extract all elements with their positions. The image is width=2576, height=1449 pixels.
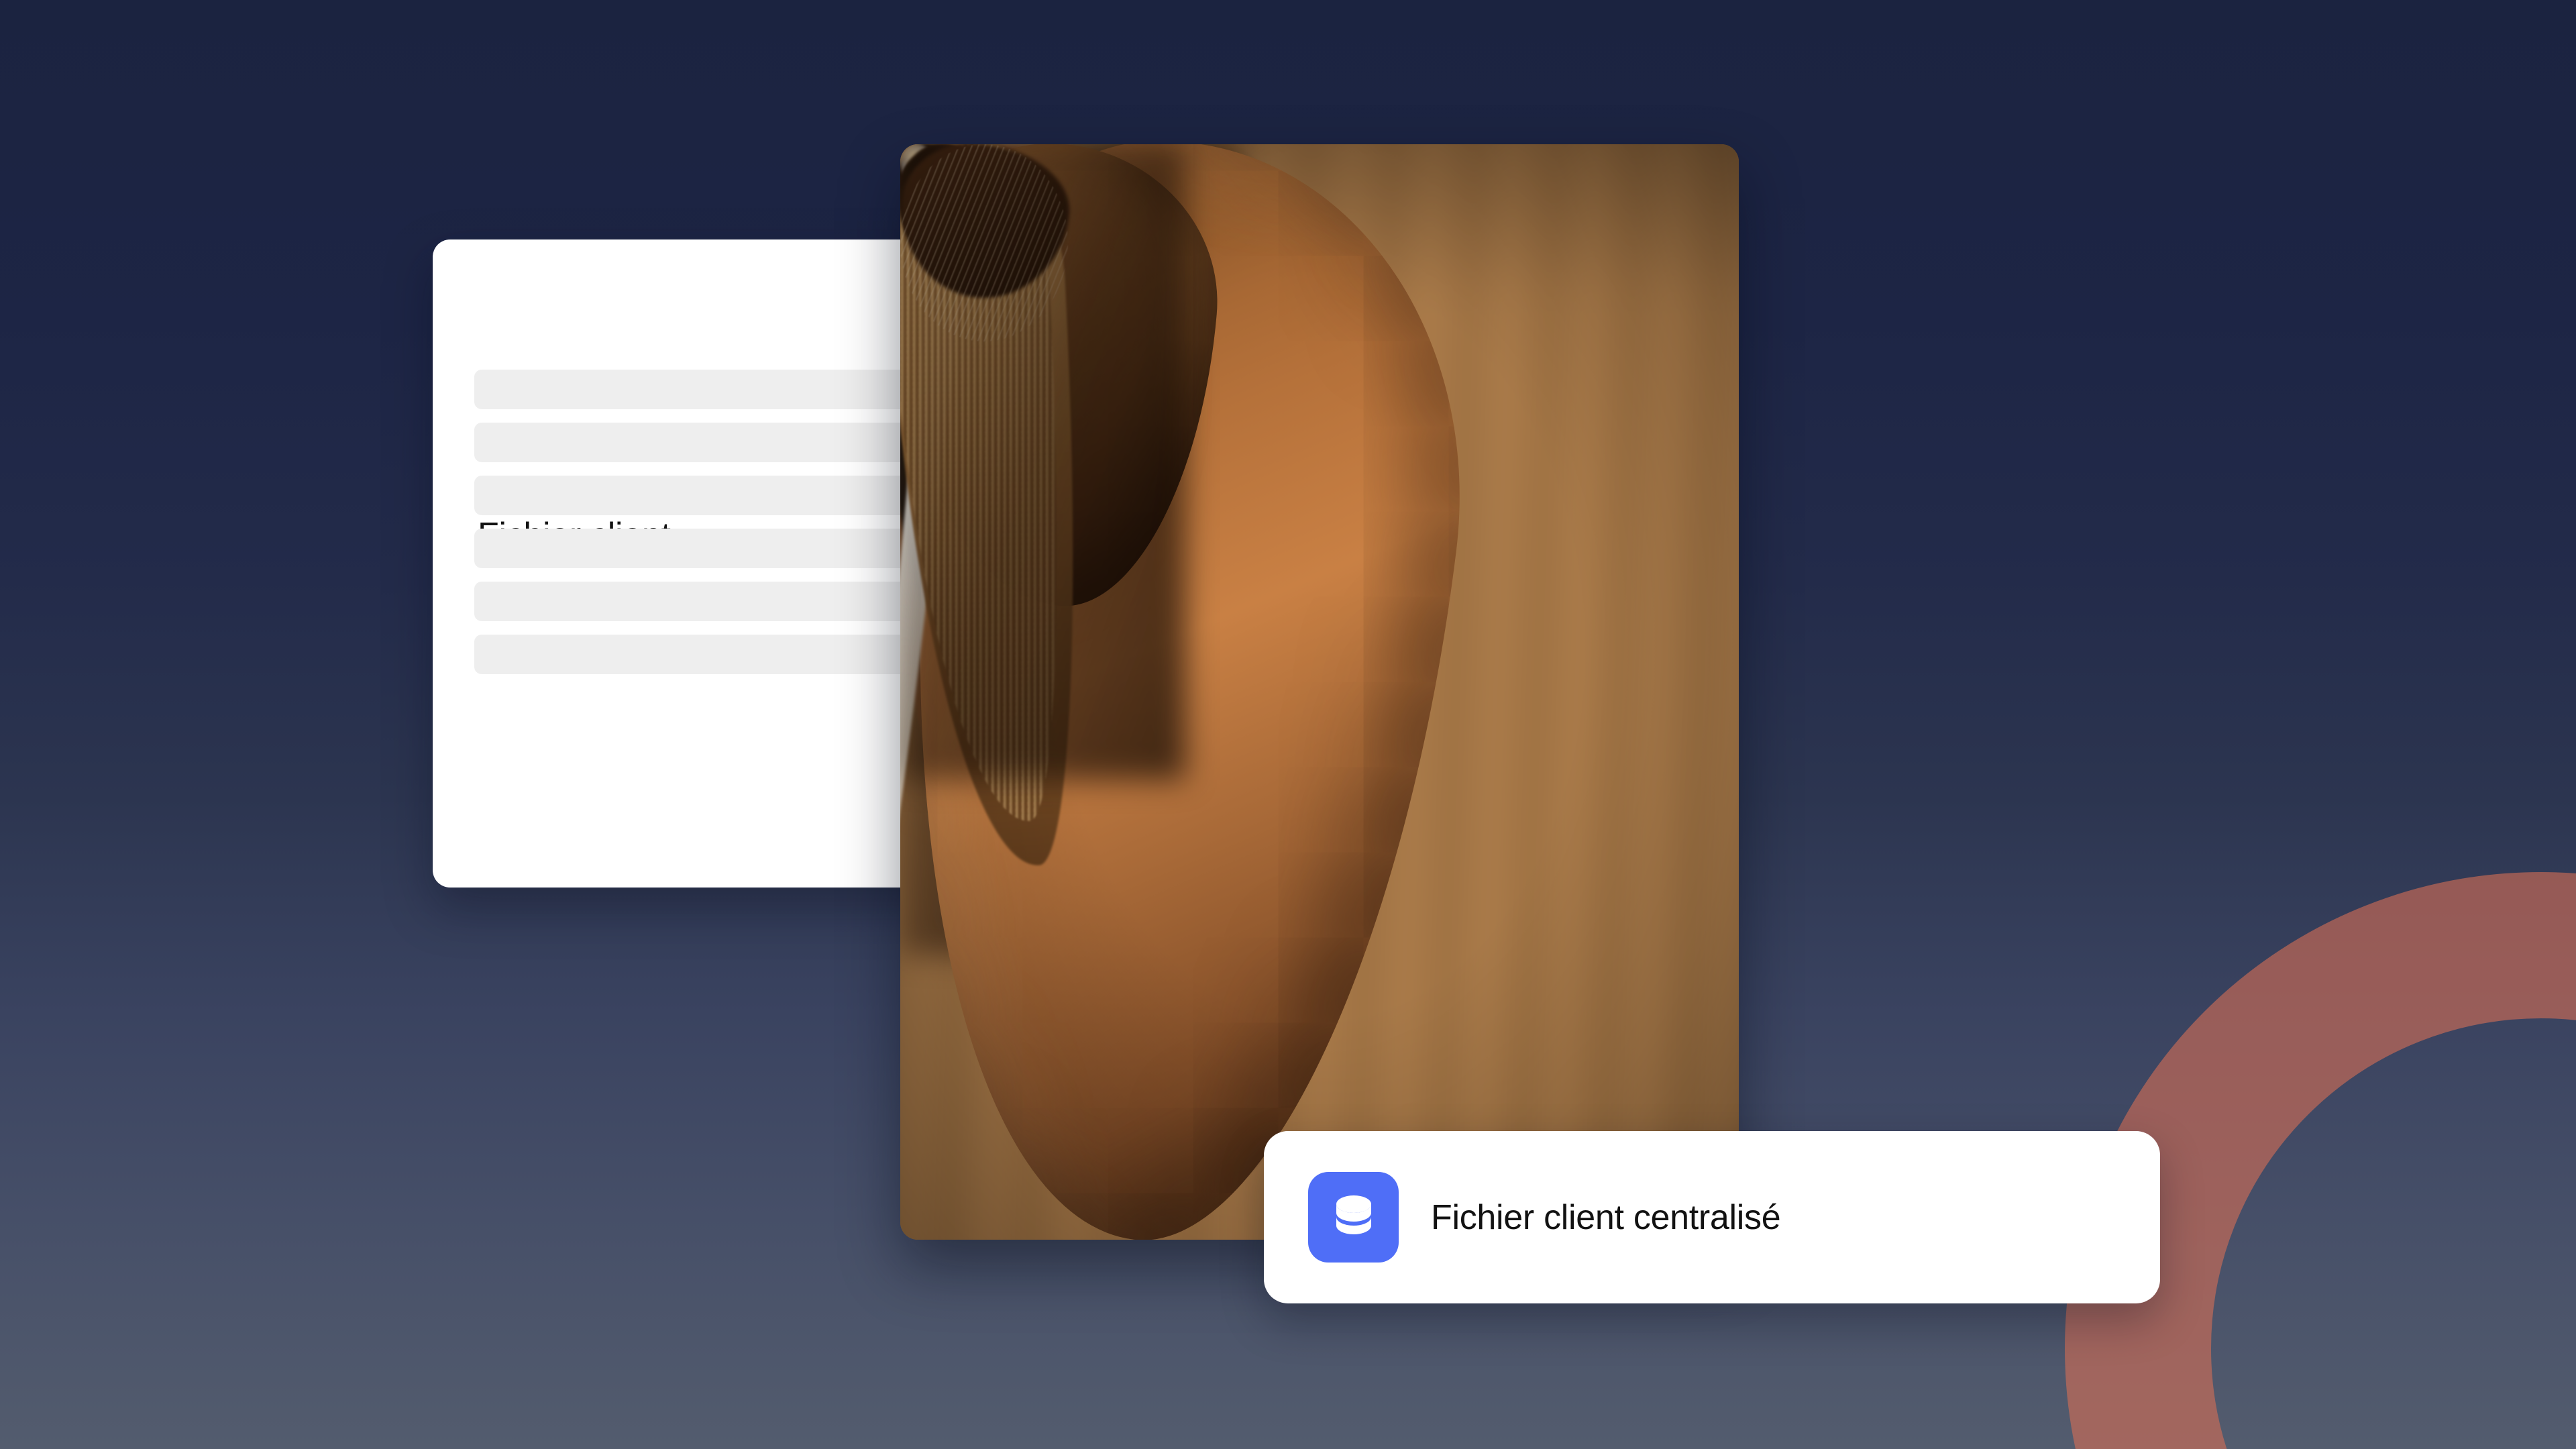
centralized-file-pill-card: Fichier client centralisé (1264, 1131, 2160, 1303)
skeleton-row (474, 476, 928, 515)
skeleton-row (474, 423, 928, 462)
client-file-card: Fichier client (433, 239, 969, 888)
promo-canvas: Fichier client (0, 0, 2576, 1449)
photo-vignette (900, 144, 1739, 1240)
database-icon (1326, 1189, 1382, 1246)
skeleton-row (474, 582, 928, 621)
skeleton-row (474, 635, 928, 674)
horses-photo-card (900, 144, 1739, 1240)
skeleton-row (474, 529, 928, 568)
centralized-file-label: Fichier client centralisé (1431, 1197, 1780, 1238)
skeleton-row-list (474, 370, 928, 688)
database-icon-tile (1308, 1172, 1399, 1263)
skeleton-row (474, 370, 928, 409)
